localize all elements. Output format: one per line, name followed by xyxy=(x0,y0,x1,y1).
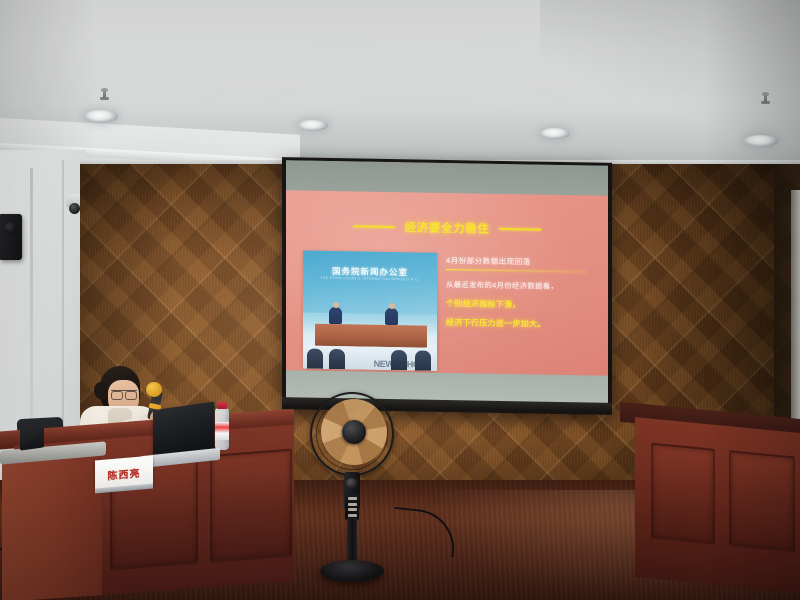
photo-backdrop xyxy=(303,250,437,314)
fan-base xyxy=(320,560,384,582)
desk-panel xyxy=(210,449,292,563)
slide-body-line-3: 经济下行压力进一步加大。 xyxy=(446,317,602,331)
name-placard-text: 陈西亮 xyxy=(108,464,141,482)
wall-seam xyxy=(62,160,64,460)
photo-audience xyxy=(329,349,345,369)
fan-button[interactable] xyxy=(348,503,357,506)
slide-heading: 4月份部分数据出现回落 xyxy=(446,255,602,269)
heading-underline xyxy=(446,269,586,273)
desk-panel xyxy=(729,450,795,552)
photo-speaker xyxy=(329,307,342,324)
fan-pole xyxy=(347,518,357,566)
fan-button[interactable] xyxy=(348,497,357,500)
slide-body-line-2: 个别经济指标下滑， xyxy=(446,298,602,312)
desk-panel xyxy=(651,443,715,545)
second-laptop[interactable] xyxy=(20,423,44,450)
fan-guard xyxy=(310,392,394,476)
ceiling-downlight-icon xyxy=(540,128,570,139)
slide-body-line-1: 从最近发布的4月份经济数据看， xyxy=(446,279,602,293)
sprinkler-head-icon xyxy=(762,92,769,96)
ceiling-downlight-icon xyxy=(298,120,328,131)
glasses-icon xyxy=(111,390,137,397)
right-desk xyxy=(620,420,800,600)
fan-button[interactable] xyxy=(348,508,357,511)
ceiling-downlight-icon xyxy=(744,135,778,147)
press-conference-photo: 国务院新闻办公室 THE STATE COUNCIL INFORMATION O… xyxy=(303,250,437,370)
slide-title-row: 经济要全力稳住 xyxy=(286,217,608,239)
photo-podium-table xyxy=(315,324,427,348)
fan-control-buttons[interactable] xyxy=(345,494,359,520)
fan-hub xyxy=(342,420,366,444)
photo-watermark: NEWS PHOTO xyxy=(374,359,431,370)
photo-speaker xyxy=(385,308,398,325)
pedestal-fan[interactable] xyxy=(306,392,398,584)
sprinkler-head-icon xyxy=(101,88,108,92)
fan-oscillation-knob[interactable] xyxy=(346,478,357,489)
conference-room-scene: 经济要全力稳住 国务院新闻办公室 THE STATE COUNCIL INFOR… xyxy=(0,0,800,600)
photo-audience xyxy=(307,349,323,369)
right-desk-front xyxy=(635,417,800,594)
microphone-head-icon xyxy=(146,382,162,397)
right-wall-strip xyxy=(791,190,800,430)
title-rule-right xyxy=(499,228,541,230)
water-bottle-cap xyxy=(217,402,227,409)
slide-body: 4月份部分数据出现回落 从最近发布的4月份经济数据看， 个别经济指标下滑， 经济… xyxy=(446,255,602,331)
projection-screen[interactable]: 经济要全力稳住 国务院新闻办公室 THE STATE COUNCIL INFOR… xyxy=(286,160,608,408)
presenter-hair-bun xyxy=(94,382,107,399)
slide-title: 经济要全力稳住 xyxy=(405,219,490,236)
title-rule-left xyxy=(353,226,395,228)
wall-speaker-icon xyxy=(0,214,22,260)
ceiling-downlight-icon xyxy=(84,110,118,123)
presentation-slide: 经济要全力稳住 国务院新闻办公室 THE STATE COUNCIL INFOR… xyxy=(286,190,608,376)
fan-button[interactable] xyxy=(348,514,357,517)
water-bottle-label xyxy=(215,422,229,440)
lectern xyxy=(2,445,102,600)
